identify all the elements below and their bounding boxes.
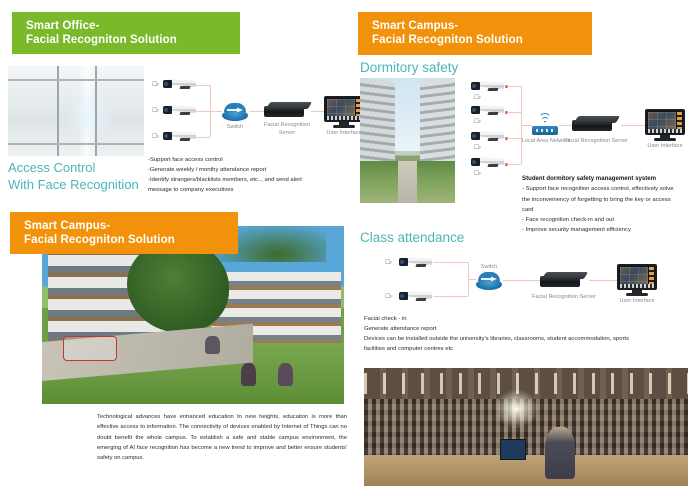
banner-smart-campus-left: Smart Campus- Facial Recogniton Solution [10, 212, 238, 254]
office-bullet-3: message to company executives [148, 185, 344, 195]
server-label: Facial Recognition Server [526, 294, 602, 302]
slide-canvas: Smart Office- Facial Recogniton Solution… [0, 0, 700, 496]
diagram-link [507, 164, 521, 165]
diagram-link [468, 279, 476, 280]
diagram-link [196, 137, 210, 138]
class-attendance-network-diagram: ☐› ☐› Switch Facial Recognition Server U… [370, 252, 688, 312]
camera-id-label: ☐› [152, 133, 158, 140]
lecture-podium-monitor [500, 439, 526, 460]
banner-office-line2: Facial Recogniton Solution [26, 33, 226, 47]
office-caption: Access Control With Face Recognition [8, 160, 139, 194]
diagram-link [196, 111, 210, 112]
network-switch-icon [476, 272, 502, 290]
class-line-1: Generate attendance report [364, 324, 694, 334]
camera-id-label: ☐› [385, 293, 391, 300]
server-label: Facial Recognition Server [558, 138, 634, 146]
banner-smart-campus-right: Smart Campus- Facial Recogniton Solution [358, 12, 592, 55]
dormitory-path [398, 161, 417, 204]
ip-camera-icon [398, 290, 432, 303]
banner-campus-right-line2: Facial Recogniton Solution [372, 33, 578, 47]
diagram-link [559, 125, 573, 126]
lecture-podium-desk [364, 455, 688, 486]
ip-camera-icon [162, 130, 196, 143]
class-line-2: Devices can be installed outside the uni… [364, 334, 694, 344]
ip-camera-icon [470, 80, 504, 93]
dormitory-sky [392, 78, 422, 151]
office-network-diagram: ☐› ☐› ☐› Switch Facial Recognition Serve… [148, 72, 344, 150]
office-bullet-2: -Identify strangers/blacklists members, … [148, 175, 344, 185]
campus-person [278, 363, 293, 386]
class-attendance-text-block: Facial check - in Generate attendance re… [364, 314, 694, 355]
monitor-label: User Interface [607, 298, 667, 306]
dormitory-bullet-4: - Improve security management efficiency [522, 225, 698, 235]
ip-camera-icon [470, 104, 504, 117]
server-label-line2: Server [260, 130, 314, 138]
diagram-link [249, 111, 265, 112]
diagram-link [507, 112, 521, 113]
dormitory-bullet-1: the inconveniency of forgetting to bring… [522, 195, 698, 205]
banner-campus-left-line1: Smart Campus- [24, 219, 224, 233]
office-caption-line2: With Face Recognition [8, 177, 139, 194]
diagram-link [589, 280, 617, 281]
server-label-line1: Facial Recognition [260, 122, 314, 130]
diagram-link [507, 86, 521, 87]
diagram-link [507, 138, 521, 139]
rack-server-icon [572, 114, 618, 131]
office-light-glow [65, 91, 114, 141]
diagram-link [503, 280, 541, 281]
dormitory-text-block: Student dormitory safety management syst… [522, 174, 698, 235]
lecture-spotlight [494, 389, 539, 429]
class-line-3: facilities and computer centres etc [364, 344, 694, 354]
dormitory-subheading: Dormitory safety [360, 60, 458, 75]
rack-server-icon [540, 270, 586, 287]
diagram-link [196, 85, 210, 86]
camera-id-label: ☐› [152, 107, 158, 114]
campus-paragraph: Technological advances have enhanced edu… [97, 412, 347, 464]
switch-label: Switch [218, 124, 252, 132]
class-attendance-subheading: Class attendance [360, 230, 464, 245]
camera-id-label: ☐› [152, 81, 158, 88]
dormitory-photo [360, 78, 455, 203]
diagram-link [311, 111, 324, 112]
diagram-link [210, 111, 222, 112]
wireless-router-icon [532, 115, 558, 135]
office-bullet-0: -Support face access control [148, 155, 344, 165]
switch-label: Switch [472, 264, 506, 272]
diagram-link [521, 125, 532, 126]
monitor-display-icon [617, 264, 657, 296]
office-bullet-1: -Generate weekly / monthy attendance rep… [148, 165, 344, 175]
diagram-link [433, 262, 468, 263]
diagram-link [621, 125, 645, 126]
dormitory-heading: Student dormitory safety management syst… [522, 174, 698, 184]
banner-office-line1: Smart Office- [26, 19, 226, 33]
banner-campus-right-line1: Smart Campus- [372, 19, 578, 33]
camera-id-label: ☐› [474, 144, 480, 151]
office-bullet-list: -Support face access control -Generate w… [148, 155, 344, 196]
rack-server-icon [264, 100, 310, 117]
lecture-speaker-person [545, 427, 574, 479]
diagram-link [433, 296, 468, 297]
monitor-display-icon [324, 96, 364, 128]
server-label: Facial Recognition Server [260, 122, 314, 137]
campus-bicycle [63, 336, 117, 361]
camera-id-label: ☐› [474, 94, 480, 101]
dormitory-bullet-2: card [522, 205, 698, 215]
banner-smart-office: Smart Office- Facial Recogniton Solution [12, 12, 240, 54]
ip-camera-icon [398, 256, 432, 269]
dormitory-bullet-0: - Support face recognition access contro… [522, 184, 698, 194]
campus-person [241, 363, 256, 386]
camera-id-label: ☐› [385, 259, 391, 266]
office-caption-line1: Access Control [8, 160, 139, 177]
dormitory-bullet-3: - Face recognition check-in and out [522, 215, 698, 225]
banner-campus-left-line2: Facial Recogniton Solution [24, 233, 224, 247]
ip-camera-icon [470, 130, 504, 143]
camera-id-label: ☐› [474, 170, 480, 177]
camera-id-label: ☐› [474, 118, 480, 125]
office-interior-photo [8, 66, 144, 156]
lecture-hall-photo [364, 368, 688, 486]
ip-camera-icon [162, 78, 196, 91]
campus-person [205, 336, 220, 354]
monitor-label: User Interface [635, 143, 695, 151]
monitor-display-icon [645, 109, 685, 141]
class-line-0: Facial check - in [364, 314, 694, 324]
ip-camera-icon [162, 104, 196, 117]
ip-camera-icon [470, 156, 504, 169]
network-switch-icon [222, 103, 248, 121]
